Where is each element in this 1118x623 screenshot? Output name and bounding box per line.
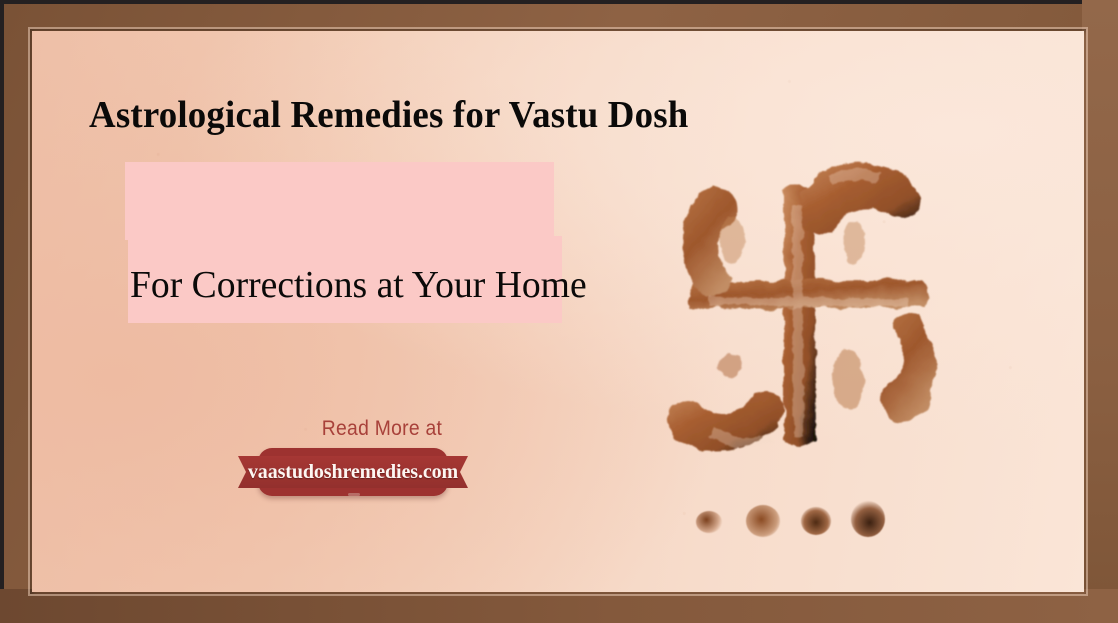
swastika-symbol-icon (652, 127, 972, 557)
poster-content-area: Astrological Remedies for Vastu Dosh For… (32, 31, 1084, 592)
read-more-label: Read More at (290, 417, 474, 441)
poster-canvas: Astrological Remedies for Vastu Dosh For… (0, 0, 1118, 623)
website-url-text: vaastudoshremedies.com (238, 456, 468, 488)
ritual-dot (801, 507, 831, 535)
poster-subheadline: For Corrections at Your Home (130, 263, 587, 307)
poster-frame-bottom-edge (0, 589, 1118, 623)
ritual-dots-group (696, 495, 926, 555)
website-ribbon-badge[interactable]: vaastudoshremedies.com (238, 446, 468, 498)
ritual-dot (746, 505, 780, 537)
highlight-block-upper (125, 162, 554, 240)
poster-frame-right-edge (1082, 0, 1118, 623)
poster-headline: Astrological Remedies for Vastu Dosh (89, 93, 688, 137)
ritual-dot (851, 501, 885, 537)
ritual-dot (696, 511, 722, 533)
ribbon-notch (348, 493, 360, 496)
